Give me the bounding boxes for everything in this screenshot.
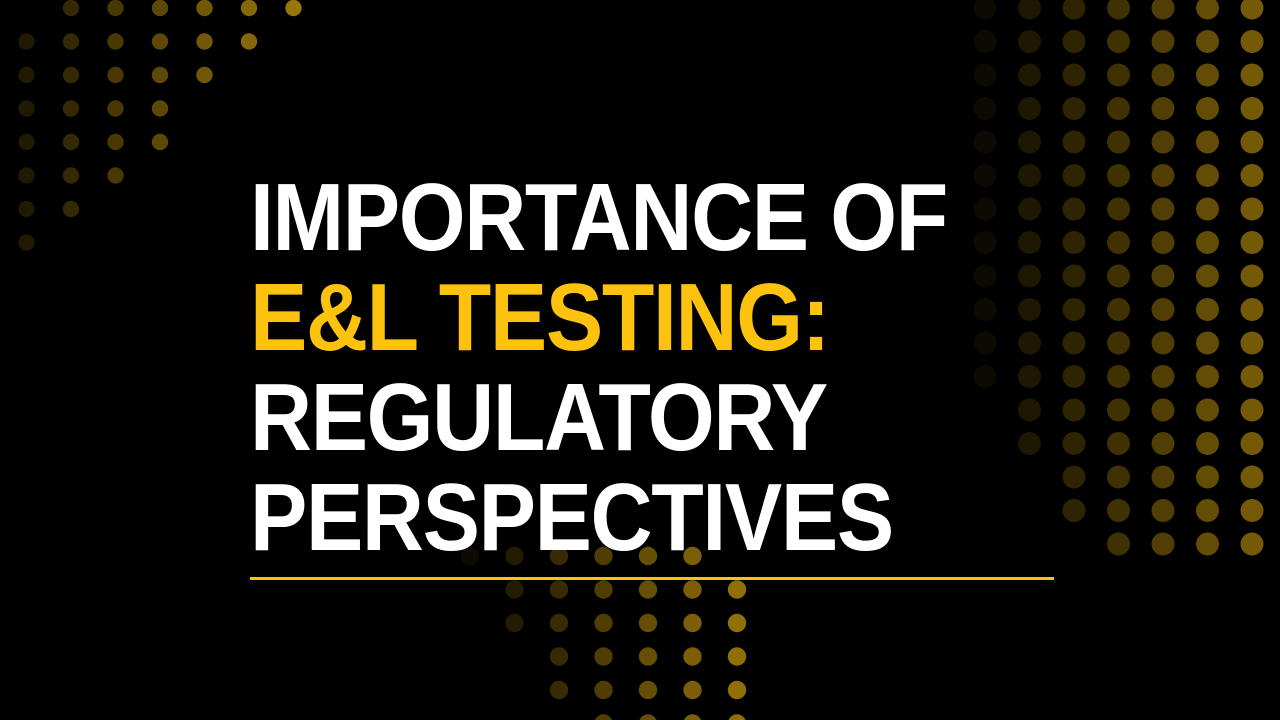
page-title: IMPORTANCE OF E&L TESTING: REGULATORY PE…: [250, 168, 1070, 568]
title-line-2: E&L TESTING:: [250, 268, 984, 368]
title-slide: IMPORTANCE OF E&L TESTING: REGULATORY PE…: [0, 0, 1280, 720]
title-divider-rule: [250, 577, 1054, 580]
title-line-1: IMPORTANCE OF: [250, 168, 984, 268]
dot-pattern-bottom-center: [461, 547, 746, 720]
title-line-4: PERSPECTIVES: [250, 468, 984, 568]
title-line-3: REGULATORY: [250, 368, 984, 468]
